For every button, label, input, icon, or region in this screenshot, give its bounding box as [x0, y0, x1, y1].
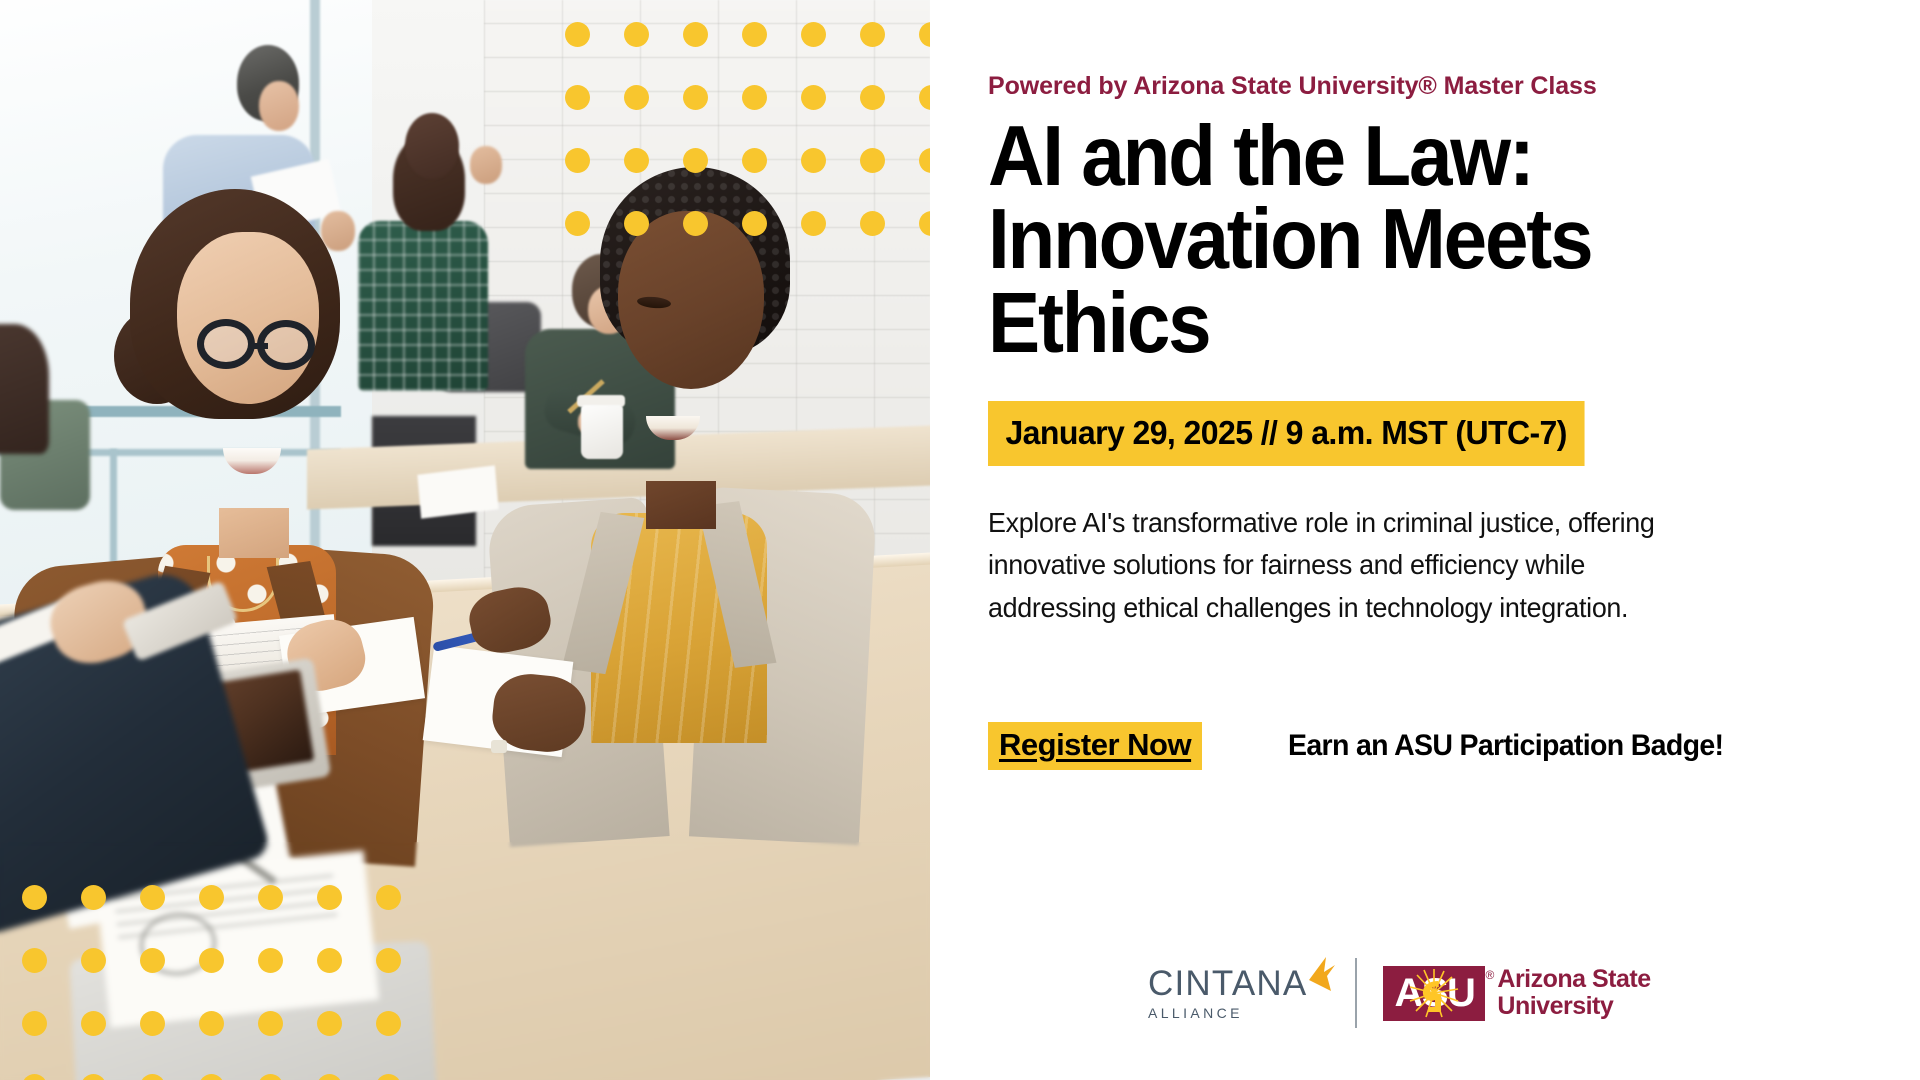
- woman-right-neck: [646, 481, 716, 529]
- woman-left-eyeglass-bridge: [252, 343, 268, 349]
- asu-mark-text: ASU: [1394, 971, 1474, 1015]
- logo-divider: [1355, 958, 1357, 1028]
- dot: [317, 948, 342, 973]
- dot: [376, 1011, 401, 1036]
- dot: [565, 85, 590, 110]
- dot: [81, 948, 106, 973]
- dot: [199, 948, 224, 973]
- dot: [258, 1011, 283, 1036]
- cintana-alliance-logo: CINTANA ALLIANCE: [1148, 966, 1329, 1020]
- dot: [199, 885, 224, 910]
- standing-woman-head: [405, 113, 459, 179]
- dot: [919, 22, 930, 47]
- description-line-2: innovative solutions for fairness and ef…: [988, 544, 1679, 587]
- headline-line-1: AI and the Law:: [988, 115, 1777, 198]
- dot: [683, 211, 708, 236]
- woman-right-ring: [491, 740, 507, 753]
- dot: [860, 85, 885, 110]
- dot: [801, 211, 826, 236]
- dot: [624, 148, 649, 173]
- standing-woman-hand-left: [321, 211, 355, 251]
- register-now-link[interactable]: Register Now: [988, 722, 1202, 770]
- dot: [199, 1011, 224, 1036]
- dot: [22, 948, 47, 973]
- dot: [140, 1074, 165, 1080]
- dot: [624, 85, 649, 110]
- asu-name: Arizona State University: [1497, 966, 1650, 1020]
- dot: [742, 211, 767, 236]
- dot: [376, 1074, 401, 1080]
- hero-photo: [0, 0, 930, 1080]
- cta-row: Register Now Earn an ASU Participation B…: [988, 722, 1846, 770]
- coffee-cup: [581, 405, 623, 459]
- woman-left-face: [177, 232, 319, 404]
- dot: [919, 85, 930, 110]
- dot: [683, 148, 708, 173]
- dot: [860, 22, 885, 47]
- dot-pattern-bottom-left: [22, 885, 401, 1080]
- dot: [81, 885, 106, 910]
- dot: [801, 22, 826, 47]
- dot: [565, 148, 590, 173]
- dot: [683, 22, 708, 47]
- standing-woman-hand-right: [470, 146, 502, 184]
- woman-left-eyeglass-left: [197, 319, 255, 369]
- dot: [258, 948, 283, 973]
- back-table-paper: [417, 465, 498, 518]
- page-title: AI and the Law: Innovation Meets Ethics: [988, 115, 1777, 365]
- event-description: Explore AI's transformative role in crim…: [988, 502, 1679, 630]
- dot: [140, 948, 165, 973]
- participation-badge-note: Earn an ASU Participation Badge!: [1288, 729, 1723, 763]
- cintana-alliance-label: ALLIANCE: [1148, 1006, 1307, 1020]
- dot: [565, 22, 590, 47]
- asu-registered-mark: ®: [1486, 968, 1495, 982]
- description-line-3: addressing ethical challenges in technol…: [988, 587, 1679, 630]
- dot: [81, 1011, 106, 1036]
- event-date-badge: January 29, 2025 // 9 a.m. MST (UTC-7): [988, 401, 1584, 466]
- dot: [801, 148, 826, 173]
- cintana-wordmark: CINTANA: [1148, 966, 1307, 1001]
- asu-name-line-2: University: [1497, 993, 1650, 1020]
- dot: [22, 1011, 47, 1036]
- asu-mark: ASU: [1383, 966, 1485, 1021]
- dot: [317, 1011, 342, 1036]
- dot: [860, 211, 885, 236]
- promotional-banner: Powered by Arizona State University® Mas…: [0, 0, 1920, 1080]
- dot: [919, 211, 930, 236]
- dot: [317, 1074, 342, 1080]
- dot: [565, 211, 590, 236]
- headline-line-2: Innovation Meets: [988, 198, 1777, 281]
- cintana-star-icon: [1305, 957, 1335, 991]
- dot: [376, 885, 401, 910]
- description-line-1: Explore AI's transformative role in crim…: [988, 502, 1679, 545]
- dot: [624, 22, 649, 47]
- asu-logo: ASU: [1383, 966, 1650, 1021]
- dot: [376, 948, 401, 973]
- eyebrow-text: Powered by Arizona State University® Mas…: [988, 72, 1846, 101]
- dot: [742, 22, 767, 47]
- dot: [140, 885, 165, 910]
- dot: [801, 85, 826, 110]
- asu-name-line-1: Arizona State: [1497, 966, 1650, 993]
- dot-pattern-top-right: [565, 22, 930, 236]
- dot: [81, 1074, 106, 1080]
- dot: [742, 85, 767, 110]
- headline-line-3: Ethics: [988, 282, 1777, 365]
- logo-lockup: CINTANA ALLIANCE ASU: [1148, 958, 1651, 1028]
- dot: [683, 85, 708, 110]
- standing-woman-plaid-shirt: [358, 221, 488, 391]
- dot: [742, 148, 767, 173]
- woman-left-neck: [219, 508, 289, 558]
- dot: [258, 885, 283, 910]
- dot: [860, 148, 885, 173]
- person-edge-left: [0, 324, 49, 454]
- dot: [22, 885, 47, 910]
- dot: [919, 148, 930, 173]
- dot: [199, 1074, 224, 1080]
- dot: [317, 885, 342, 910]
- dot: [624, 211, 649, 236]
- standing-man-face: [259, 81, 299, 131]
- dot: [22, 1074, 47, 1080]
- dot: [140, 1011, 165, 1036]
- dot: [258, 1074, 283, 1080]
- content-panel: Powered by Arizona State University® Mas…: [930, 0, 1920, 1080]
